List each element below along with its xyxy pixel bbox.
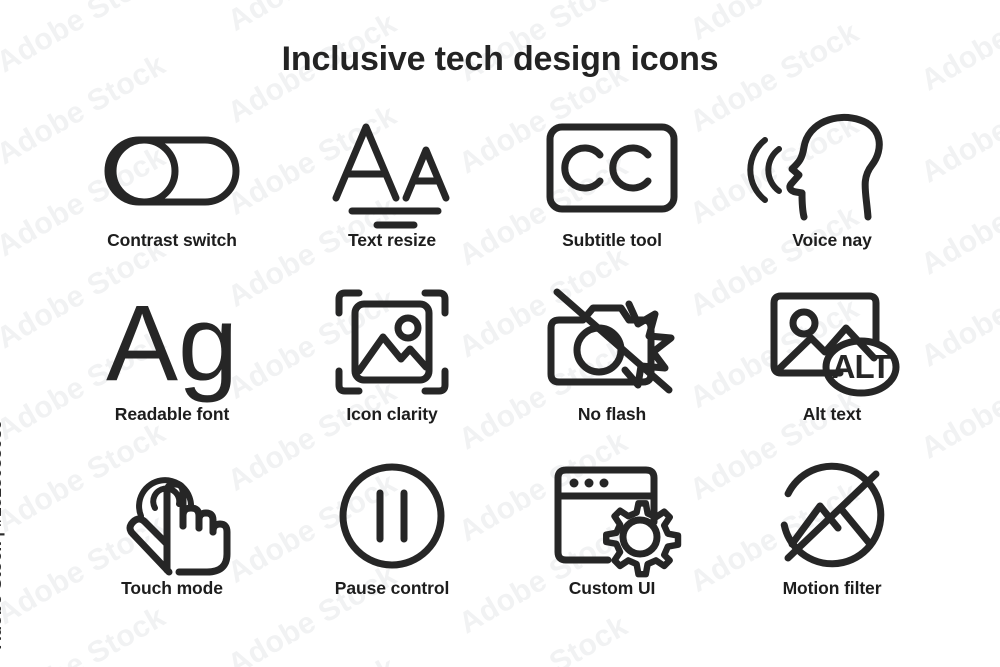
icon-label: Pause control — [335, 578, 449, 599]
stock-id-label: Adobe Stock | #1523083089 — [0, 419, 6, 649]
icon-label: Text resize — [348, 230, 436, 251]
icon-cell-custom-ui[interactable]: Custom UI — [502, 458, 722, 632]
icon-label: Alt text — [803, 404, 862, 425]
icon-cell-contrast-switch[interactable]: Contrast switch — [62, 110, 282, 284]
readable-font-icon: Ag — [97, 284, 247, 400]
no-flash-icon — [537, 284, 687, 400]
icon-cell-text-resize[interactable]: Text resize — [282, 110, 502, 284]
readable-font-sample: Ag — [106, 282, 238, 403]
icon-label: Contrast switch — [107, 230, 237, 251]
icon-cell-readable-font[interactable]: Ag Readable font — [62, 284, 282, 458]
pause-control-icon — [336, 458, 448, 574]
icon-label: Icon clarity — [346, 404, 437, 425]
icon-cell-subtitle-tool[interactable]: Subtitle tool — [502, 110, 722, 284]
icon-cell-voice-nay[interactable]: Voice nay — [722, 110, 942, 284]
icon-label: Touch mode — [121, 578, 223, 599]
icon-clarity-icon — [331, 284, 453, 400]
alt-text-icon: ALT — [762, 284, 902, 400]
icon-cell-motion-filter[interactable]: Motion filter — [722, 458, 942, 632]
contrast-switch-icon — [97, 110, 247, 226]
subtitle-cc-icon — [542, 110, 682, 226]
icon-cell-pause-control[interactable]: Pause control — [282, 458, 502, 632]
voice-head-icon — [762, 110, 902, 226]
page-title: Inclusive tech design icons — [0, 40, 1000, 79]
custom-ui-icon — [544, 458, 680, 574]
alt-badge-text: ALT — [832, 348, 892, 385]
icon-label: Motion filter — [783, 578, 882, 599]
icon-sheet: Inclusive tech design icons Contrast swi… — [0, 0, 1000, 667]
icon-cell-touch-mode[interactable]: Touch mode — [62, 458, 282, 632]
icon-label: Voice nay — [792, 230, 872, 251]
icon-label: Custom UI — [569, 578, 656, 599]
stock-attribution-rail: Adobe Stock | #1523083089 — [0, 0, 44, 667]
touch-mode-icon — [107, 458, 237, 574]
icon-cell-no-flash[interactable]: No flash — [502, 284, 722, 458]
icon-cell-icon-clarity[interactable]: Icon clarity — [282, 284, 502, 458]
icon-clarity-alt-text[interactable]: ALT Alt text — [722, 284, 942, 458]
icon-label: Readable font — [115, 404, 229, 425]
icon-label: No flash — [578, 404, 646, 425]
text-resize-icon — [322, 110, 462, 226]
icon-grid: Contrast switch Text resize — [62, 110, 942, 632]
icon-label: Subtitle tool — [562, 230, 662, 251]
motion-filter-icon — [774, 458, 890, 574]
